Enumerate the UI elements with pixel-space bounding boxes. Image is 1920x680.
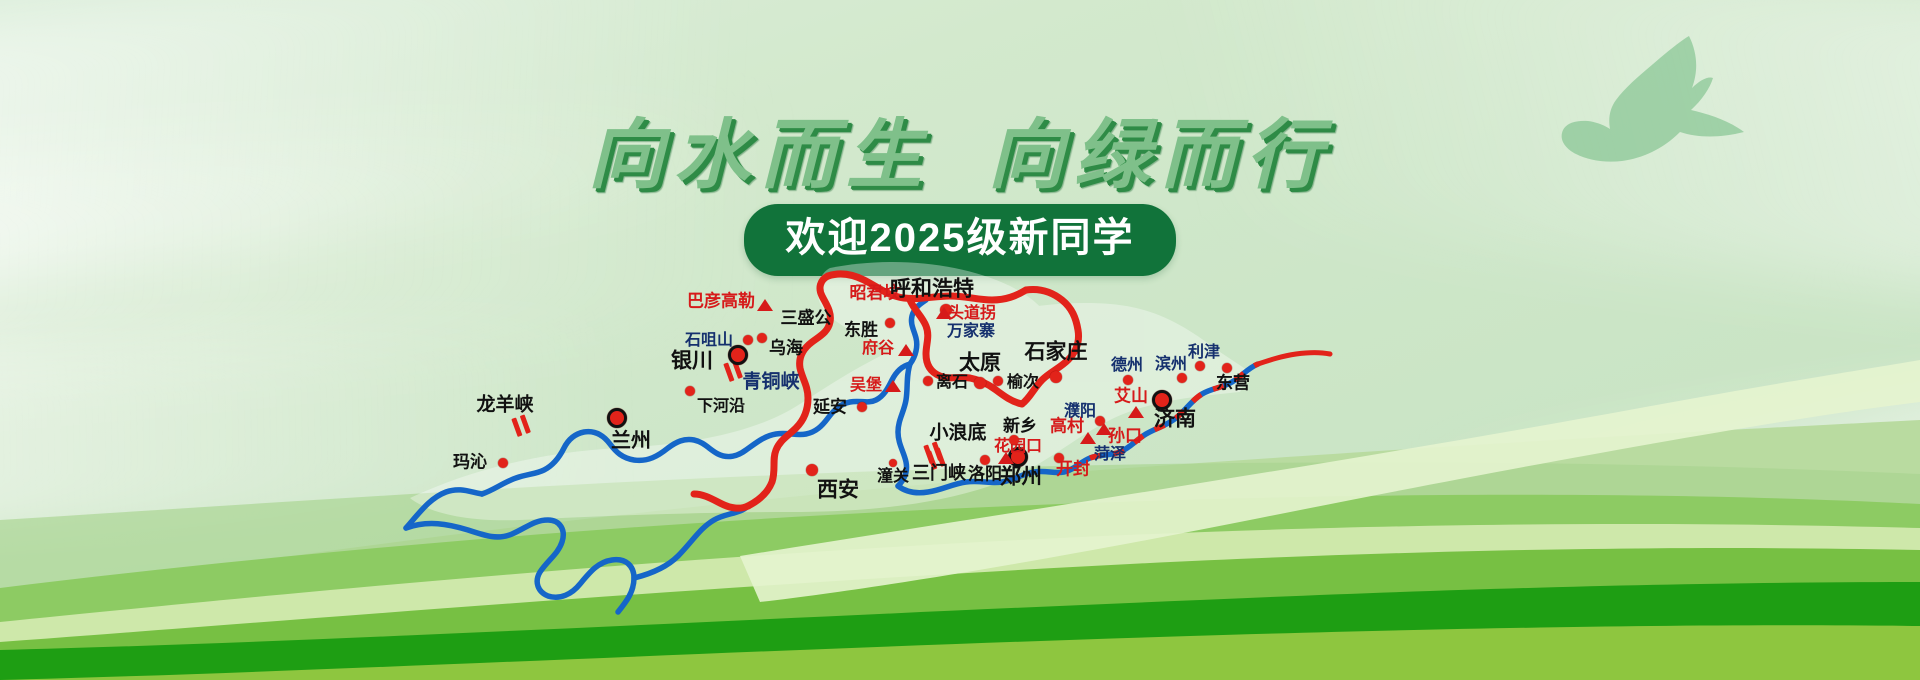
map-label: 小浪底 xyxy=(929,424,986,443)
map-city-dot xyxy=(607,408,627,428)
map-city-dot xyxy=(806,464,818,476)
map-label: 石咀山 xyxy=(685,332,733,348)
map-label: 呼和浩特 xyxy=(890,278,974,299)
map-city-dot xyxy=(1123,375,1133,385)
map-station-marker xyxy=(885,380,901,392)
map-label: 太原 xyxy=(959,352,1001,373)
map-city-dot xyxy=(1009,435,1019,445)
map-city-dot xyxy=(685,386,695,396)
map-station-marker xyxy=(757,299,773,311)
map-city-dot xyxy=(1050,371,1062,383)
map-label: 头道拐 xyxy=(948,305,996,321)
map-label: 三盛公 xyxy=(781,311,832,328)
map-label: 龙羊峡 xyxy=(476,396,533,415)
map-label: 玛沁 xyxy=(453,455,487,472)
map-label: 三门峡 xyxy=(912,465,966,483)
map-city-dot xyxy=(757,333,767,343)
map-label: 孙口 xyxy=(1108,429,1142,446)
map-station-marker xyxy=(898,344,914,356)
yellow-river-basin-map xyxy=(0,0,1920,680)
map-label: 东胜 xyxy=(844,323,878,340)
map-label: 吴堡 xyxy=(850,377,882,393)
map-city-dot xyxy=(993,376,1003,386)
map-label: 东营 xyxy=(1216,376,1250,393)
map-city-dot xyxy=(743,335,753,345)
map-label: 银川 xyxy=(671,350,713,371)
river-red-link xyxy=(1258,353,1330,365)
map-label: 榆次 xyxy=(1007,374,1039,390)
map-label: 巴彦高勒 xyxy=(687,294,755,311)
map-label: 兰州 xyxy=(611,430,651,450)
map-label: 利津 xyxy=(1188,344,1220,360)
map-label: 洛阳 xyxy=(968,467,1002,484)
map-label: 延安 xyxy=(813,400,847,417)
map-label: 石家庄 xyxy=(1025,341,1088,362)
map-label: 德州 xyxy=(1111,357,1143,373)
map-label: 青铜峡 xyxy=(742,373,799,392)
map-city-dot xyxy=(1177,373,1187,383)
map-station-marker xyxy=(1128,406,1144,418)
map-label: 菏泽 xyxy=(1094,446,1126,462)
map-label: 郑州 xyxy=(1000,466,1042,487)
map-label: 济南 xyxy=(1154,408,1196,429)
welcome-banner: 向水而生向绿而行 欢迎2025级新同学 xyxy=(0,0,1920,680)
map-label: 离石 xyxy=(936,374,968,390)
map-city-dot xyxy=(857,402,867,412)
map-city-dot xyxy=(923,376,933,386)
map-city-dot xyxy=(498,458,508,468)
map-label: 新乡 xyxy=(1003,419,1037,436)
map-label: 府谷 xyxy=(862,340,894,356)
map-label: 西安 xyxy=(817,479,859,500)
map-city-dot xyxy=(974,377,986,389)
map-city-dot xyxy=(1195,361,1205,371)
map-city-dot xyxy=(885,318,895,328)
map-label: 乌海 xyxy=(769,341,803,358)
map-label: 濮阳 xyxy=(1064,403,1096,419)
map-label: 潼关 xyxy=(877,468,909,484)
map-label: 万家寨 xyxy=(947,323,995,339)
map-label: 下河沿 xyxy=(697,398,745,414)
map-label: 开封 xyxy=(1056,462,1090,479)
map-label: 高村 xyxy=(1050,419,1084,436)
map-city-dot xyxy=(980,455,990,465)
map-label: 艾山 xyxy=(1114,389,1148,406)
map-label: 滨州 xyxy=(1155,356,1187,372)
map-city-dot xyxy=(1222,363,1232,373)
